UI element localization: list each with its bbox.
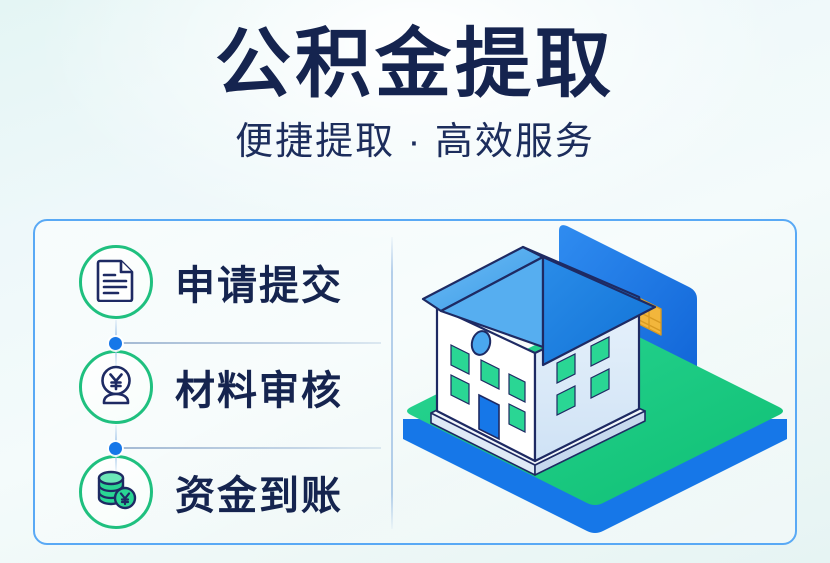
coin-stack-yuan-icon — [94, 469, 138, 516]
list-item-label: 申请提交 — [175, 253, 343, 311]
document-icon — [96, 258, 136, 307]
info-panel: 申请提交 材料审核 — [33, 219, 797, 545]
connector-dot — [109, 442, 122, 455]
page-title: 公积金提取 — [0, 24, 830, 106]
list-item-label: 资金到账 — [175, 463, 343, 521]
steps-list: 申请提交 材料审核 — [35, 221, 391, 543]
step-connector — [35, 320, 391, 366]
list-item[interactable]: 申请提交 — [79, 242, 343, 322]
step-connector — [35, 425, 391, 471]
yuan-review-icon — [94, 363, 138, 412]
page-subtitle: 便捷提取 · 高效服务 — [0, 120, 830, 166]
connector-horizontal-line — [123, 447, 381, 449]
connector-horizontal-line — [123, 342, 381, 344]
step-icon-circle — [79, 245, 153, 319]
isometric-house-and-bank-card-illustration — [393, 223, 797, 545]
list-item-label: 材料审核 — [175, 358, 343, 416]
poster-root: 公积金提取 便捷提取 · 高效服务 申请提交 — [0, 0, 830, 563]
header: 公积金提取 便捷提取 · 高效服务 — [0, 0, 830, 166]
connector-dot — [109, 337, 122, 350]
